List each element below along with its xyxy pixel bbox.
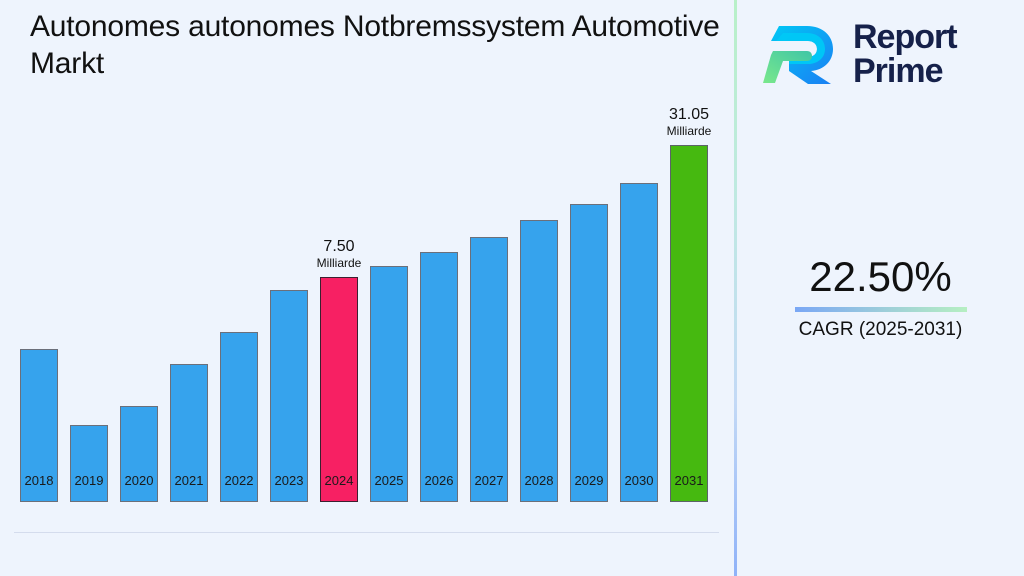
bar-2025[interactable] xyxy=(370,266,408,502)
bar-group-2022: 2022 xyxy=(220,242,258,502)
bar-value-label-2031: 31.05Milliarde xyxy=(667,105,712,139)
bar-group-2023: 2023 xyxy=(270,200,308,502)
bar-2031[interactable] xyxy=(670,145,708,502)
x-axis-tick-2021: 2021 xyxy=(175,473,204,488)
bar-2024[interactable] xyxy=(320,277,358,502)
x-axis-tick-2029: 2029 xyxy=(575,473,604,488)
report-prime-logo[interactable]: Report Prime xyxy=(763,14,1008,94)
chart-infographic-page: Autonomes autonomes Notbremssystem Autom… xyxy=(0,0,1024,576)
bar-2019[interactable] xyxy=(70,425,108,502)
bar-group-2026: 2026 xyxy=(420,162,458,502)
x-axis-tick-2031: 2031 xyxy=(675,473,704,488)
bar-group-2019: 2019 xyxy=(70,335,108,502)
x-axis-tick-2026: 2026 xyxy=(425,473,454,488)
cagr-divider-rule xyxy=(795,307,967,312)
x-axis-tick-2022: 2022 xyxy=(225,473,254,488)
bar-group-2031: 31.05Milliarde2031 xyxy=(670,55,708,502)
x-axis-tick-2023: 2023 xyxy=(275,473,304,488)
x-axis-tick-2019: 2019 xyxy=(75,473,104,488)
x-axis-tick-2027: 2027 xyxy=(475,473,504,488)
bar-value-number-2024: 7.50 xyxy=(317,237,362,256)
bar-2028[interactable] xyxy=(520,220,558,502)
bar-group-2029: 2029 xyxy=(570,114,608,502)
x-axis-tick-2018: 2018 xyxy=(25,473,54,488)
x-axis-tick-2020: 2020 xyxy=(125,473,154,488)
x-axis-tick-2025: 2025 xyxy=(375,473,404,488)
bar-2023[interactable] xyxy=(270,290,308,502)
x-axis-tick-2024: 2024 xyxy=(325,473,354,488)
bar-group-2030: 2030 xyxy=(620,93,658,502)
bar-value-label-2024: 7.50Milliarde xyxy=(317,237,362,271)
bar-group-2021: 2021 xyxy=(170,274,208,502)
bar-value-unit-2031: Milliarde xyxy=(667,124,712,139)
bar-value-number-2031: 31.05 xyxy=(667,105,712,124)
bar-value-unit-2024: Milliarde xyxy=(317,256,362,271)
bar-chart-plot: 2018201920202021202220237.50Milliarde202… xyxy=(0,0,735,545)
brand-wordmark: Report Prime xyxy=(853,20,957,88)
bar-2030[interactable] xyxy=(620,183,658,502)
bar-group-2018: 2018 xyxy=(20,259,58,502)
bar-group-2027: 2027 xyxy=(470,147,508,502)
chart-panel: Autonomes autonomes Notbremssystem Autom… xyxy=(0,0,735,576)
bar-group-2025: 2025 xyxy=(370,176,408,502)
report-prime-r-logo-icon xyxy=(763,21,839,87)
cagr-value: 22.50% xyxy=(737,252,1024,302)
x-axis-tick-2030: 2030 xyxy=(625,473,654,488)
brand-name-line2: Prime xyxy=(853,52,943,90)
x-axis-tick-2028: 2028 xyxy=(525,473,554,488)
brand-panel: Report Prime 22.50% CAGR (2025-2031) xyxy=(737,0,1024,576)
bar-group-2024: 7.50Milliarde2024 xyxy=(320,187,358,502)
cagr-caption: CAGR (2025-2031) xyxy=(737,318,1024,342)
cagr-summary: 22.50% CAGR (2025-2031) xyxy=(737,252,1024,342)
bar-2029[interactable] xyxy=(570,204,608,502)
bar-group-2020: 2020 xyxy=(120,316,158,502)
bar-2027[interactable] xyxy=(470,237,508,502)
brand-name-line1: Report xyxy=(853,18,957,56)
bar-group-2028: 2028 xyxy=(520,130,558,502)
x-axis-line xyxy=(14,532,719,533)
bar-2026[interactable] xyxy=(420,252,458,502)
